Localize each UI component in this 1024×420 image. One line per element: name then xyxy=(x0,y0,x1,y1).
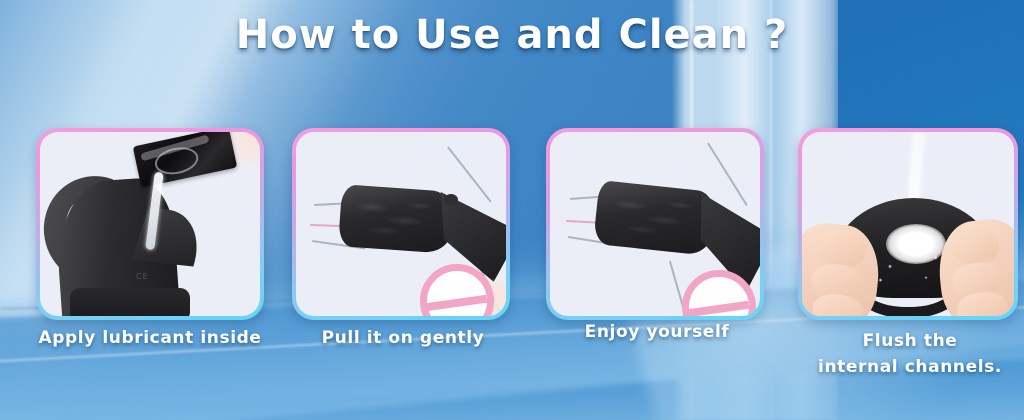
sleeve-texture xyxy=(338,184,454,254)
step-photo-1: CE xyxy=(40,132,260,316)
lubricant-sachet xyxy=(133,132,238,188)
product-sleeve xyxy=(593,180,717,256)
step-caption-4: Flush the internal channels. xyxy=(796,328,1024,380)
step-caption-3: Enjoy yourself xyxy=(554,322,760,342)
finger xyxy=(951,227,1001,268)
ce-marking: CE xyxy=(136,272,149,281)
product-sleeve xyxy=(338,184,454,254)
step-card-2[interactable] xyxy=(292,128,510,320)
step-card-4[interactable] xyxy=(798,128,1018,320)
page-title: How to Use and Clean ? xyxy=(0,12,1024,58)
finger xyxy=(817,229,867,270)
step-card-3[interactable] xyxy=(546,128,764,320)
step-caption-1: Apply lubricant inside xyxy=(30,328,270,348)
sachet-highlight xyxy=(140,134,209,161)
step-photo-2 xyxy=(296,132,506,316)
step-caption-2: Pull it on gently xyxy=(300,328,506,348)
product-base xyxy=(70,288,190,316)
step-photo-3 xyxy=(550,132,760,316)
step-card-1[interactable]: CE xyxy=(36,128,264,320)
step-photo-4 xyxy=(802,132,1014,316)
sleeve-texture xyxy=(593,180,717,256)
product-nub xyxy=(444,194,458,206)
